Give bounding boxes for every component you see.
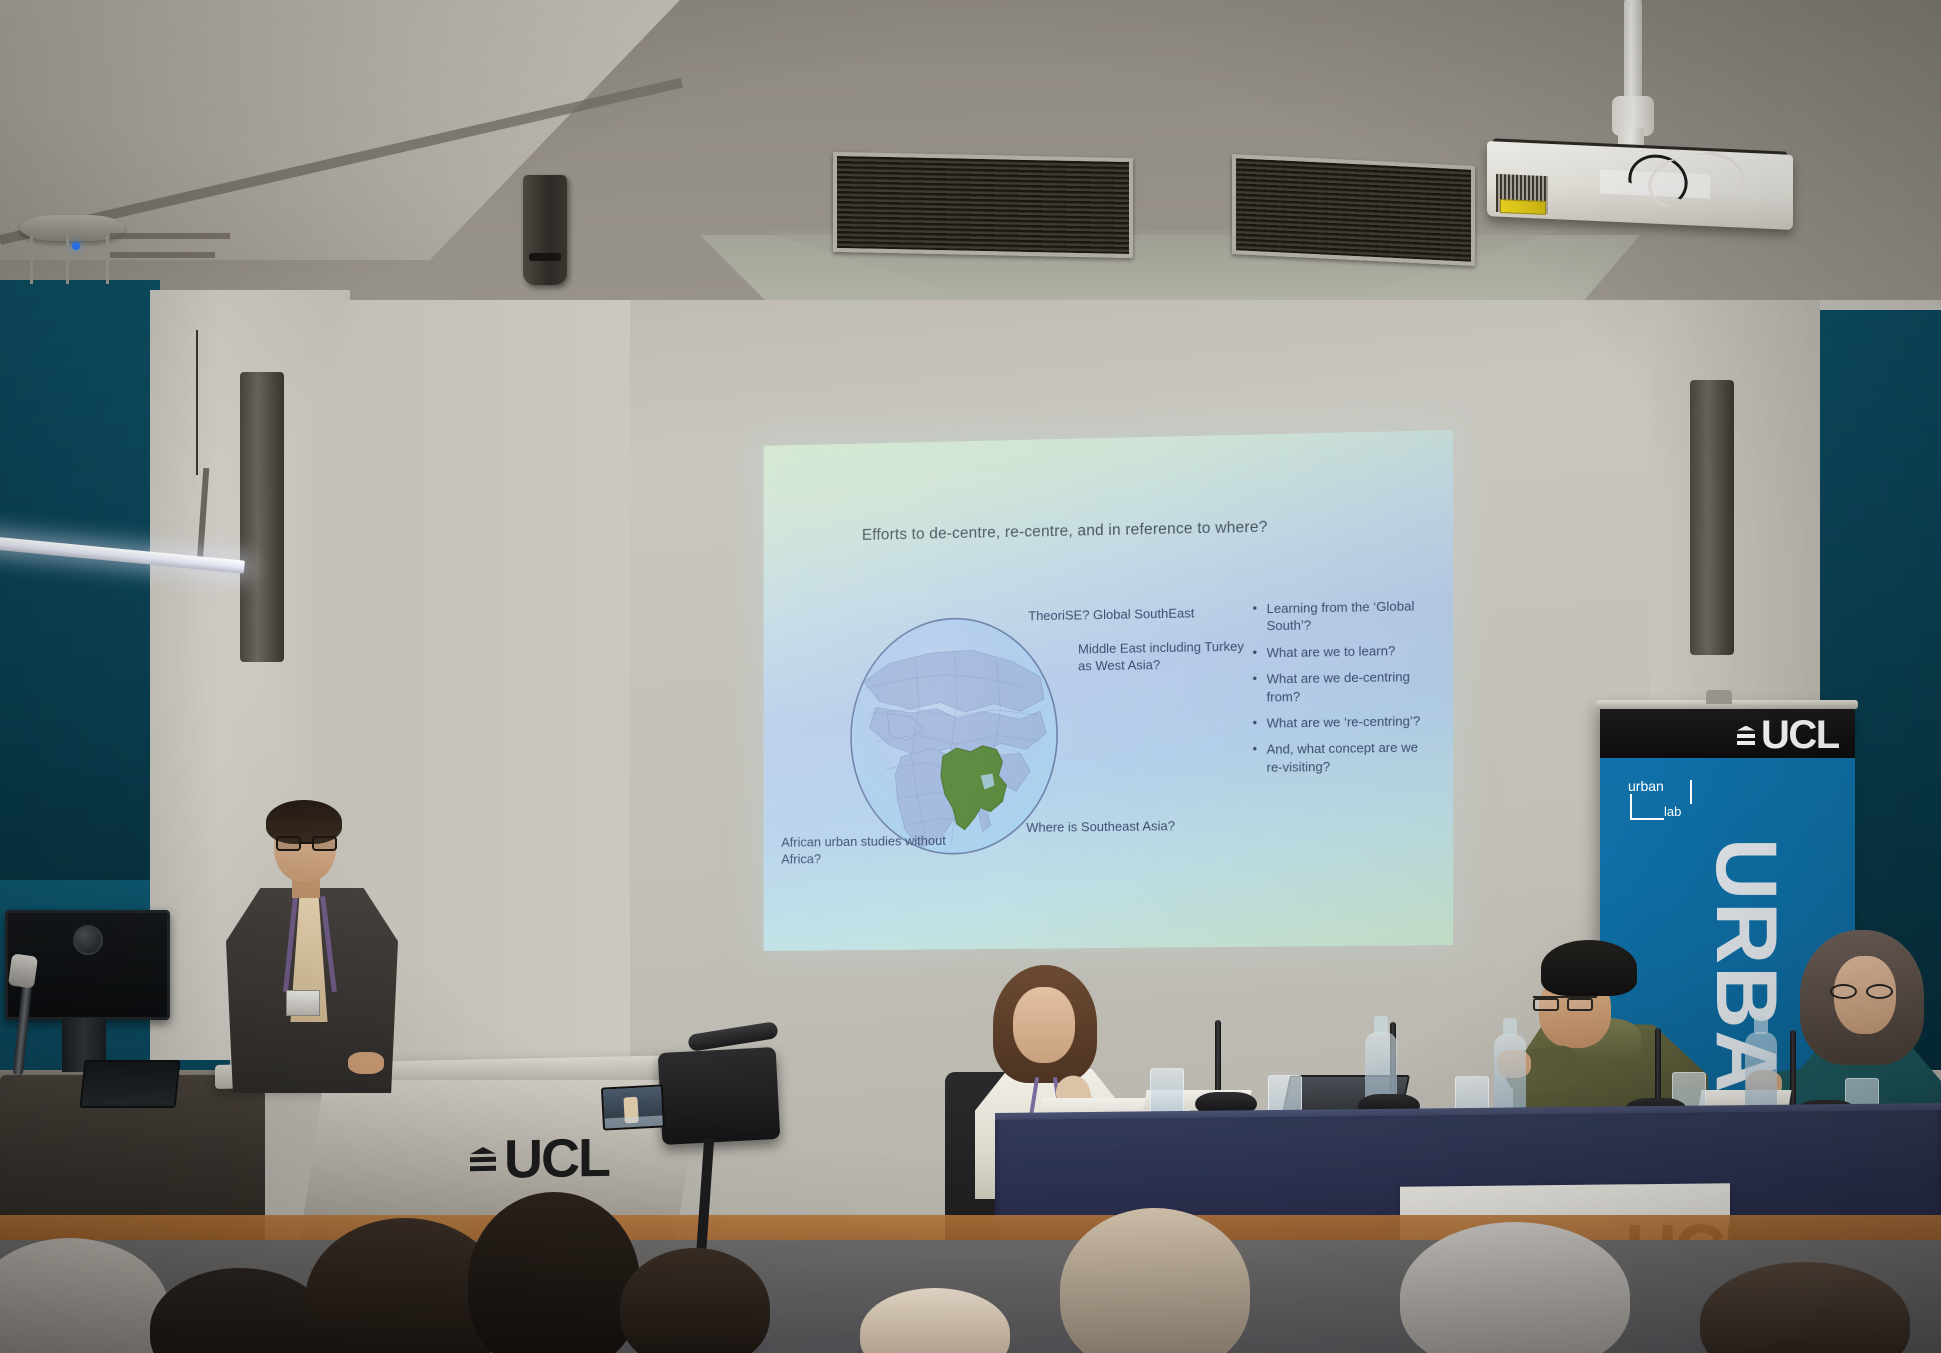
slide-bullet: What are we de-centring from? [1250,668,1432,706]
presenter-hand [348,1052,384,1074]
panelist-2-cap [1541,940,1637,996]
slide-label-southeast-asia: Where is Southeast Asia? [1026,817,1216,836]
ceiling-rail [110,252,215,258]
slide-bullet-list: Learning from the ‘Global South’? What a… [1250,597,1432,785]
slide-bullet: What are we to learn? [1250,641,1432,662]
slide-bullet: What are we ‘re-centring’? [1250,712,1432,732]
microphone-head [8,953,38,988]
side-desk-laptop [79,1060,180,1108]
slide-label-middle-east: Middle East including Turkey as West Asi… [1078,637,1258,674]
urban-lab-logo: urban lab [1628,778,1706,824]
banner-ucl-logo: UCL [1737,713,1839,758]
sensor-led-indicator [72,242,80,250]
urban-lab-logo-rule [1690,780,1692,804]
projector-mount-pole [1624,0,1642,105]
banner-ucl-text: UCL [1761,713,1839,758]
projector-warning-label [1500,199,1546,215]
panelist-2-glasses-icon [1533,996,1597,1009]
urban-lab-logo-line2: lab [1664,804,1681,819]
panel-microphone-gooseneck [1655,1028,1661,1106]
ceiling-speaker [523,175,567,285]
lectern-ucl-text: UCL [504,1127,609,1191]
slide-title: Efforts to de-centre, re-centre, and in … [862,516,1382,545]
video-camera [658,1047,781,1145]
lectern-ucl-logo: UCL [470,1127,609,1191]
ucl-mark-icon [1737,725,1755,747]
dell-logo [73,925,103,955]
ceiling-sensor-legs [30,236,110,286]
slide-label-african-urban-studies: African urban studies without Africa? [781,832,958,868]
ceiling-air-vent [1232,154,1475,266]
presenter-glasses-icon [276,836,338,851]
presenter-lanyard [286,896,334,992]
panel-microphone-gooseneck [1790,1030,1796,1108]
camera-lcd-screen [601,1084,665,1130]
slide-bullet: Learning from the ‘Global South’? [1250,597,1432,635]
panelist-3-glasses-icon [1830,984,1896,999]
banner-pole-cap [1706,690,1732,704]
ucl-mark-icon [470,1145,496,1175]
ceiling-air-vent [833,152,1133,258]
slide-label-theorise: TheoriSE? Global SouthEast [1028,603,1258,624]
wall-speaker-column [1690,380,1734,655]
lecture-hall-photo: Efforts to de-centre, re-centre, and in … [0,0,1941,1353]
slide-bullet: And, what concept are we re-visiting? [1250,739,1432,777]
urban-lab-logo-line1: urban [1628,778,1664,794]
ceiling-rail [110,233,230,239]
presenter [222,800,402,1090]
light-cable [196,330,198,475]
panel-microphone-gooseneck [1215,1020,1221,1098]
urban-lab-logo-bracket-icon [1630,794,1664,820]
projected-slide: Efforts to de-centre, re-centre, and in … [764,430,1453,951]
wall-speaker-column [240,372,284,662]
presenter-badge [286,990,320,1016]
panelist-1-face [1013,987,1075,1063]
